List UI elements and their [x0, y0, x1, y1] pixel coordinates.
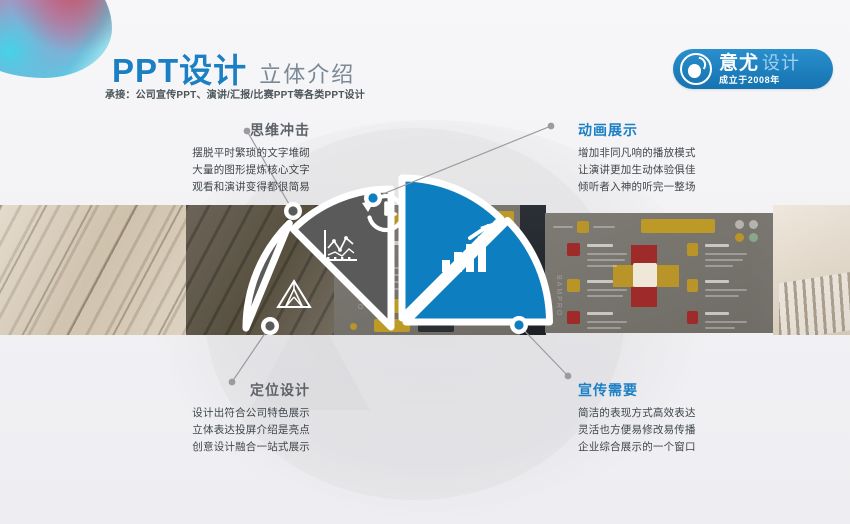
- callout-line: 大量的图形提炼核心文字: [70, 162, 310, 179]
- callout-body: 摆脱平时繁琐的文字堆砌 大量的图形提炼核心文字 观看和演讲变得都很简易: [70, 145, 310, 196]
- callout-heading: 思维冲击: [70, 120, 310, 140]
- callout-line: 让演讲更加生动体验俱佳: [578, 162, 818, 179]
- logo-established: 成立于2008年: [719, 76, 800, 85]
- callout-line: 设计出符合公司特色展示: [70, 405, 310, 422]
- mouse-logo-icon: [680, 53, 712, 85]
- connector-endpoint-top-right: [548, 123, 555, 130]
- title-main: PPT设计: [112, 44, 247, 92]
- callout-line: 摆脱平时繁琐的文字堆砌: [70, 145, 310, 162]
- title-subtitle: 立体介绍: [259, 57, 355, 89]
- callout-line: 增加非同凡响的播放模式: [578, 145, 818, 162]
- callout-top-right: 动画展示 增加非同凡响的播放模式 让演讲更加生动体验俱佳 倾听者入神的听完一整场: [578, 120, 818, 196]
- callout-line: 创意设计融合一站式展示: [70, 439, 310, 456]
- callout-bottom-right: 宣传需要 简洁的表现方式高效表达 灵活也方便易修改易传播 企业综合展示的一个窗口: [578, 380, 818, 456]
- callout-line: 观看和演讲变得都很简易: [70, 179, 310, 196]
- callout-body: 增加非同凡响的播放模式 让演讲更加生动体验俱佳 倾听者入神的听完一整场: [578, 145, 818, 196]
- callout-heading: 动画展示: [578, 120, 818, 140]
- slide-canvas: BAMPRO: [0, 0, 850, 524]
- callout-line: 企业综合展示的一个窗口: [578, 439, 818, 456]
- slide-thumbnail-right: BAMPRO: [545, 213, 773, 333]
- fan-segment-siwei[interactable]: [293, 189, 391, 327]
- logo-name-bold: 意尤: [719, 54, 759, 73]
- connector-endpoint-bottom-right: [565, 373, 572, 380]
- callout-line: 简洁的表现方式高效表达: [578, 405, 818, 422]
- callout-body: 设计出符合公司特色展示 立体表达投屏介绍是亮点 创意设计融合一站式展示: [70, 405, 310, 456]
- photo-wood-texture: [0, 205, 186, 335]
- callout-line: 灵活也方便易修改易传播: [578, 422, 818, 439]
- page-title: PPT设计 立体介绍: [112, 44, 355, 92]
- callout-bottom-left: 定位设计 设计出符合公司特色展示 立体表达投屏介绍是亮点 创意设计融合一站式展示: [70, 380, 310, 456]
- logo-text: 意尤 设计 成立于2008年: [719, 54, 800, 85]
- callout-body: 简洁的表现方式高效表达 灵活也方便易修改易传播 企业综合展示的一个窗口: [578, 405, 818, 456]
- fan-segment-dingwei[interactable]: [246, 223, 289, 328]
- callout-line: 立体表达投屏介绍是亮点: [70, 422, 310, 439]
- callout-line: 倾听者入神的听完一整场: [578, 179, 818, 196]
- photo-building: [773, 205, 850, 335]
- logo-name-light: 设计: [762, 54, 800, 72]
- callout-top-left: 思维冲击 摆脱平时繁琐的文字堆砌 大量的图形提炼核心文字 观看和演讲变得都很简易: [70, 120, 310, 196]
- title-description: 承接：公司宣传PPT、演讲/汇报/比赛PPT等各类PPT设计: [105, 86, 365, 101]
- brand-logo[interactable]: 意尤 设计 成立于2008年: [673, 49, 833, 89]
- callout-heading: 宣传需要: [578, 380, 818, 400]
- callout-heading: 定位设计: [70, 380, 310, 400]
